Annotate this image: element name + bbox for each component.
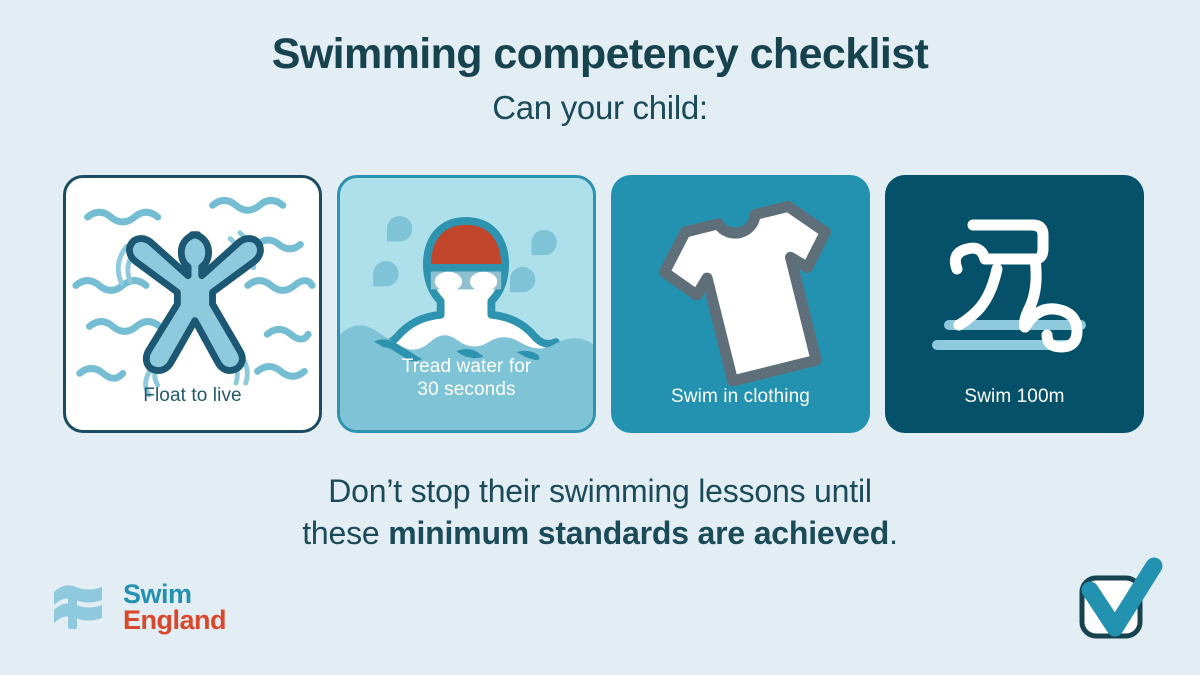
checkmark-box-icon bbox=[1068, 556, 1164, 652]
card-label-swim-100m: Swim 100m bbox=[885, 385, 1144, 409]
checklist-card-float-to-live[interactable]: Float to live bbox=[63, 175, 322, 433]
footer-line-2-prefix: these bbox=[302, 515, 388, 551]
logo-word-england: England bbox=[123, 608, 226, 634]
footer-line-2-suffix: . bbox=[889, 515, 898, 551]
swim-england-wordmark: Swim England bbox=[123, 582, 226, 633]
card-label-line-1: Tread water for bbox=[402, 356, 532, 377]
page-title: Swimming competency checklist bbox=[0, 32, 1200, 77]
card-label-tread-water: Tread water for 30 seconds bbox=[340, 355, 593, 403]
checklist-card-swim-in-clothing[interactable]: Swim in clothing bbox=[611, 175, 870, 433]
swim-england-logo[interactable]: Swim England bbox=[48, 578, 226, 638]
footer-line-2: these minimum standards are achieved. bbox=[0, 512, 1200, 554]
checklist-card-swim-100m[interactable]: Swim 100m bbox=[885, 175, 1144, 433]
card-label-swim-in-clothing: Swim in clothing bbox=[611, 385, 870, 409]
footer-line-2-strong: minimum standards are achieved bbox=[388, 515, 889, 551]
footer-message: Don’t stop their swimming lessons until … bbox=[0, 470, 1200, 554]
page-subtitle: Can your child: bbox=[0, 89, 1200, 127]
checklist-card-tread-water[interactable]: Tread water for 30 seconds bbox=[337, 175, 596, 433]
swim-england-wave-mark bbox=[48, 578, 112, 638]
page-header: Swimming competency checklist Can your c… bbox=[0, 0, 1200, 127]
footer-line-1: Don’t stop their swimming lessons until bbox=[0, 470, 1200, 512]
checklist-card-row: Float to live Tread water fo bbox=[63, 175, 1137, 433]
card-label-line-2: 30 seconds bbox=[417, 379, 515, 400]
card-label-float-to-live: Float to live bbox=[66, 384, 319, 408]
